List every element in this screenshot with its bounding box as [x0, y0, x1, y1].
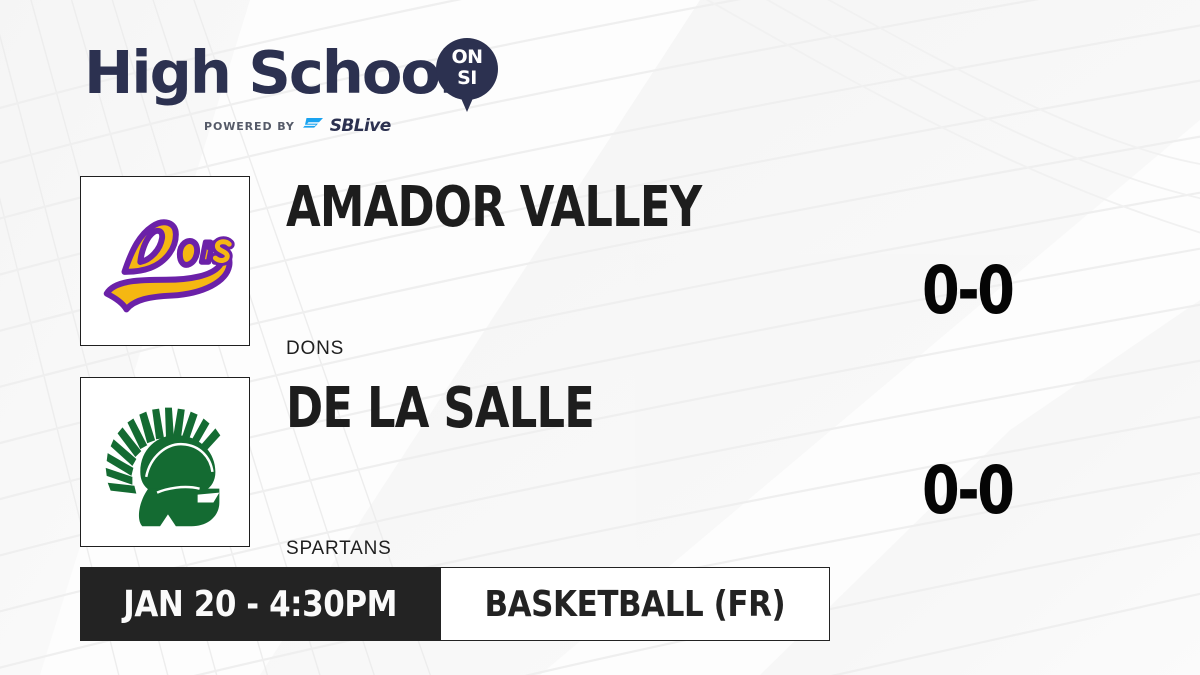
spartan-helmet-logo — [81, 378, 249, 546]
sblive-wordmark: SBLive — [330, 116, 391, 136]
event-datetime-label: JAN 20 - 4:30PM — [123, 584, 397, 625]
powered-by-row: POWERED BY SBLive — [204, 116, 391, 136]
team-logo-amador-valley — [80, 176, 250, 346]
team-mascot-secondary: SPARTANS — [286, 538, 392, 560]
team-name-primary: AMADOR VALLEY — [286, 180, 701, 236]
pin-line-si: SI — [436, 68, 498, 89]
team-logo-de-la-salle — [80, 377, 250, 547]
event-datetime-chip: JAN 20 - 4:30PM — [80, 567, 440, 641]
team-record-secondary: 0-0 — [922, 458, 1012, 524]
event-sport-label: BASKETBALL (FR) — [485, 584, 786, 625]
team-record-primary: 0-0 — [922, 258, 1012, 324]
event-info-bar: JAN 20 - 4:30PM BASKETBALL (FR) — [80, 567, 830, 641]
team-name-secondary: DE LA SALLE — [286, 381, 594, 437]
sblive-s-mark-icon — [302, 118, 323, 134]
team-mascot-primary: DONS — [286, 338, 344, 360]
dons-script-logo — [81, 177, 249, 345]
location-pin-icon: ON SI — [436, 38, 498, 116]
powered-by-label: POWERED BY — [204, 120, 295, 133]
pin-line-on: ON — [436, 47, 498, 68]
brand-header: High School ON SI POWERED BY SBLive — [84, 34, 514, 134]
event-sport-chip: BASKETBALL (FR) — [440, 567, 830, 641]
pin-text: ON SI — [436, 47, 498, 89]
brand-wordmark: High School — [84, 42, 457, 104]
